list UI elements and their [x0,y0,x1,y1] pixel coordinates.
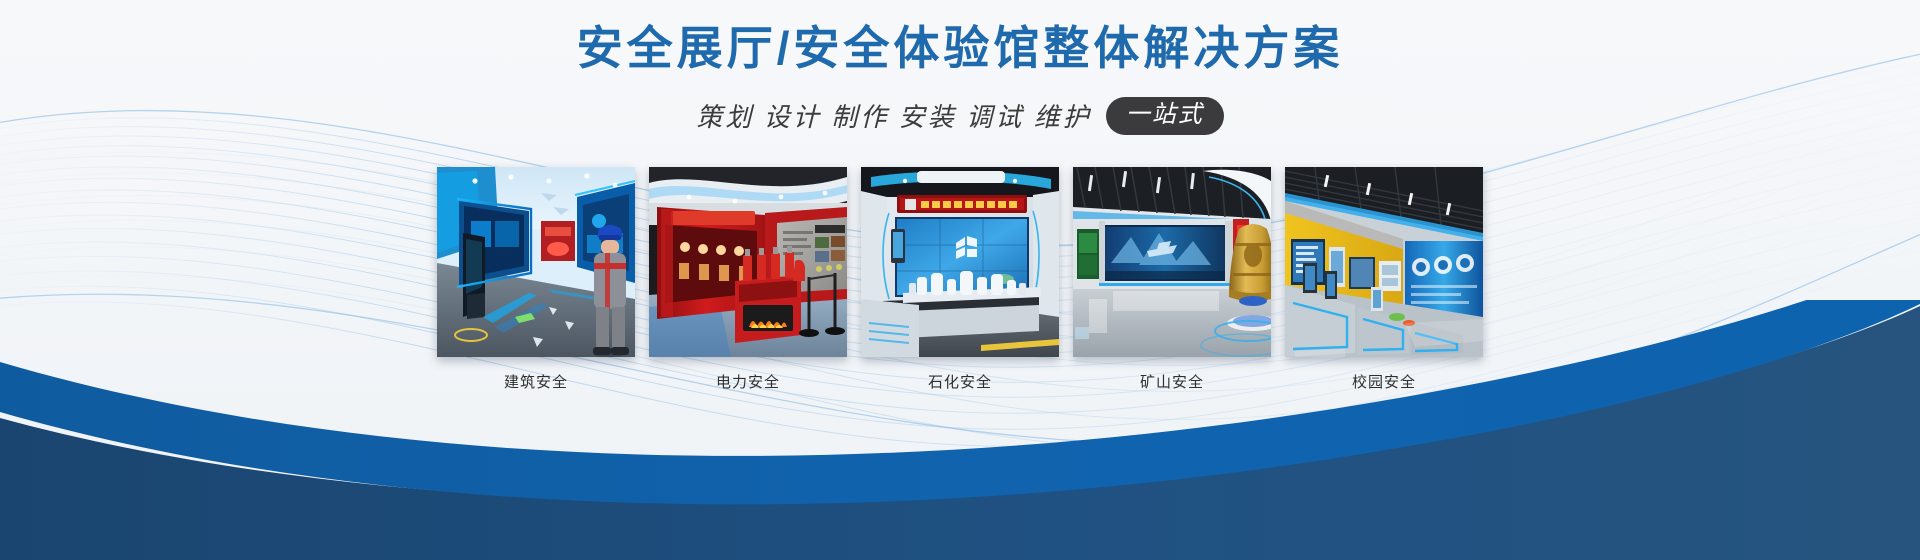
gallery-item-caption: 石化安全 [861,371,1059,392]
thumbnail-image-electric[interactable] [649,167,847,357]
fire-equipment-scene-icon [649,167,847,357]
service-steps-text: 策划 设计 制作 安装 调试 维护 [696,97,1092,134]
thumbnail-image-mine[interactable] [1073,167,1271,357]
gallery-item-caption: 矿山安全 [1073,371,1271,392]
gallery-item-caption: 校园安全 [1285,371,1483,392]
gallery-item-caption: 电力安全 [649,371,847,392]
mine-safety-scene-icon [1073,167,1271,357]
safety-exhibition-banner: 安全展厅/安全体验馆整体解决方案 策划 设计 制作 安装 调试 维护 一站式 [0,0,1920,560]
gallery-item[interactable]: 矿山安全 [1073,167,1271,392]
thumbnail-image-petrochemical[interactable] [861,167,1059,357]
thumbnail-image-campus[interactable] [1285,167,1483,357]
construction-safety-scene-icon [437,167,635,357]
gallery-item[interactable]: 校园安全 [1285,167,1483,392]
gallery-strip: 建筑安全 [437,167,1483,392]
status-badge: 一站式 [1106,97,1224,135]
thumbnail-image-construction[interactable] [437,167,635,357]
gallery-item[interactable]: 石化安全 [861,167,1059,392]
page-title: 安全展厅/安全体验馆整体解决方案 [577,22,1344,75]
gallery-item[interactable]: 电力安全 [649,167,847,392]
petrochemical-safety-scene-icon [861,167,1059,357]
subtitle-row: 策划 设计 制作 安装 调试 维护 一站式 [696,97,1224,135]
gallery-item[interactable]: 建筑安全 [437,167,635,392]
campus-safety-scene-icon [1285,167,1483,357]
gallery-item-caption: 建筑安全 [437,371,635,392]
